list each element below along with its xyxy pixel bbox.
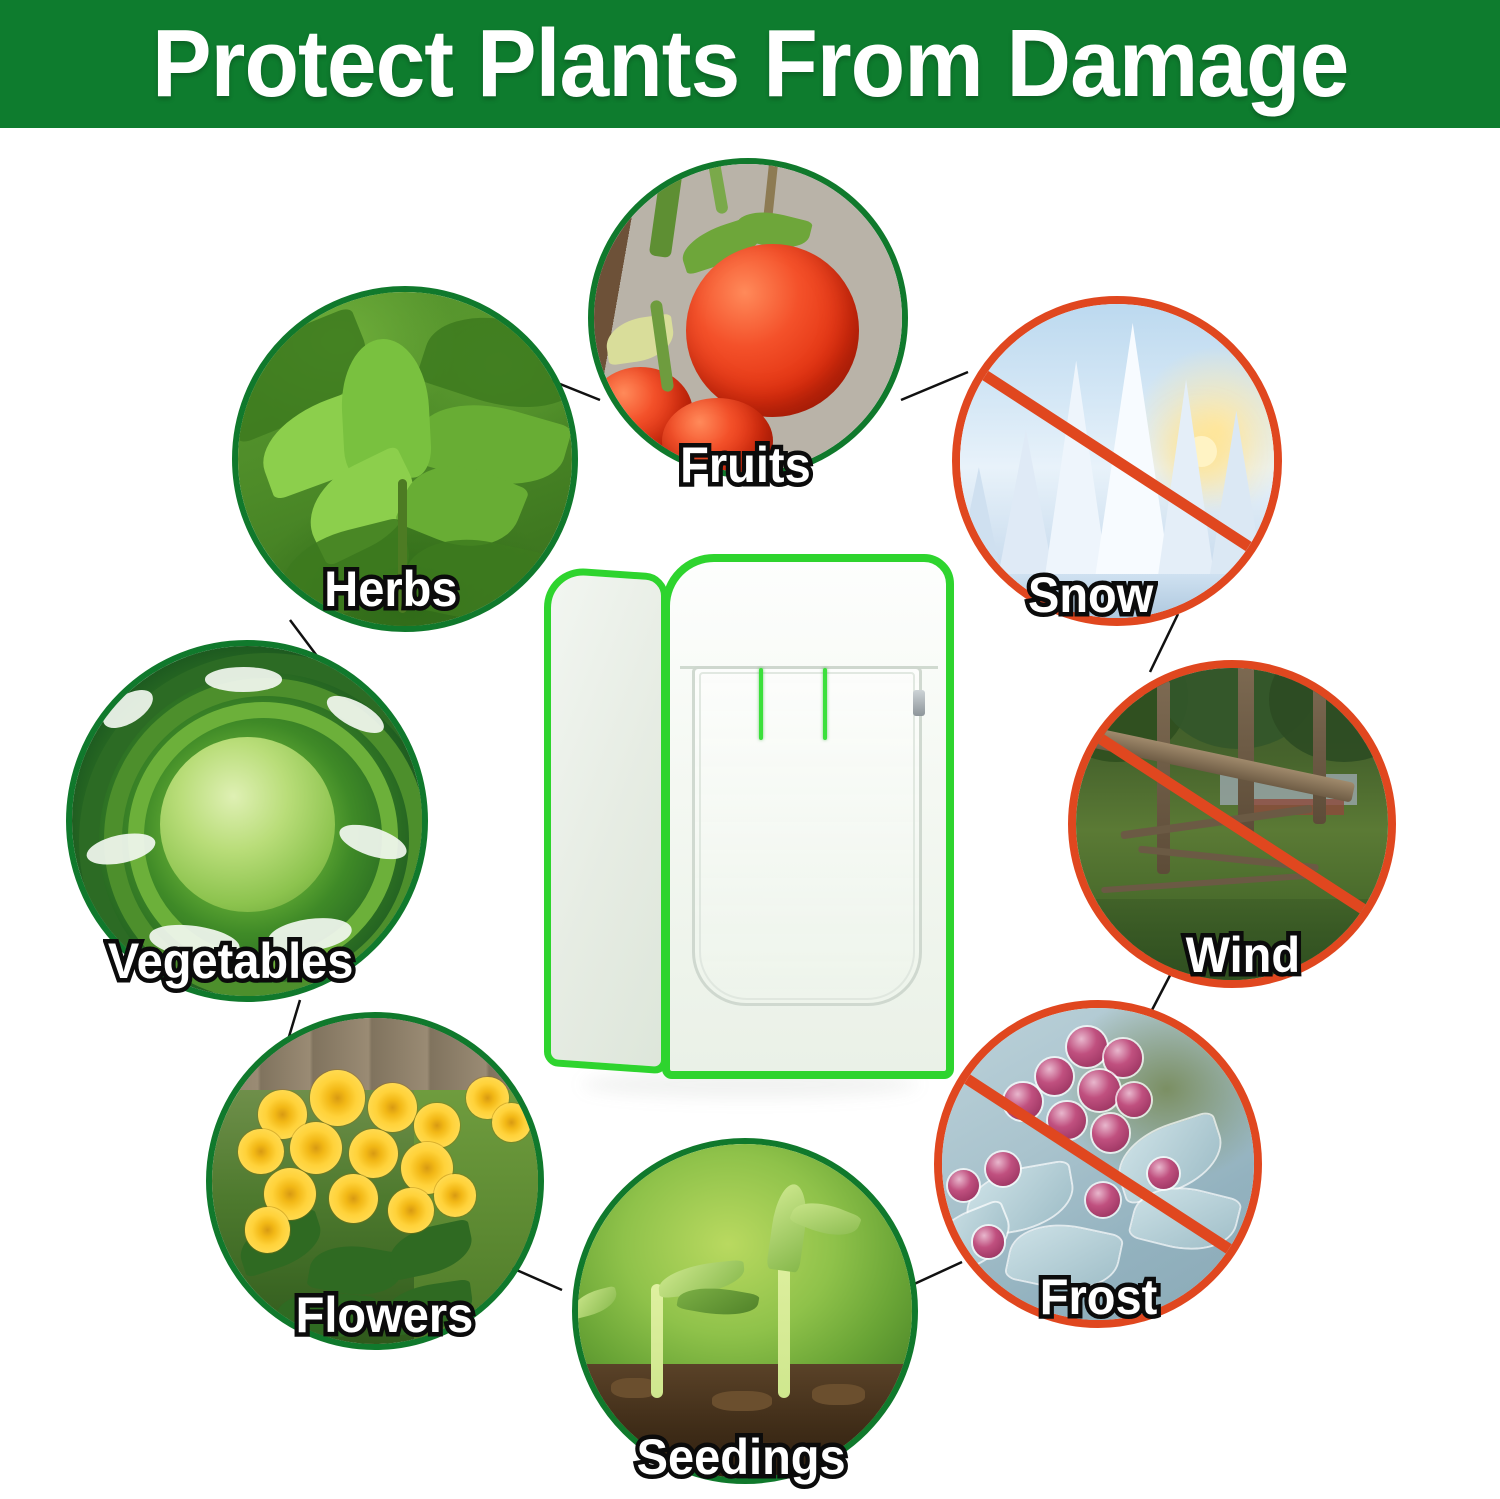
node-label-fruits: Fruits xyxy=(680,438,811,492)
tomato-icon xyxy=(594,164,902,472)
node-label-herbs: Herbs xyxy=(324,562,457,616)
header-banner: Protect Plants From Damage xyxy=(0,0,1500,128)
tent-door-inner-seam xyxy=(699,672,915,1000)
node-label-seedings: Seedings xyxy=(637,1430,846,1484)
node-label-vegetables: Vegetables xyxy=(108,934,354,988)
fruits-circle xyxy=(588,158,908,478)
node-flowers[interactable]: Flowers xyxy=(206,1012,544,1350)
page-title: Protect Plants From Damage xyxy=(152,14,1348,114)
node-vegetables[interactable]: Vegetables xyxy=(66,640,428,1002)
connector-snow-wind xyxy=(1150,614,1178,672)
infographic-page: Protect Plants From Damage xyxy=(0,0,1500,1499)
node-herbs[interactable]: Herbs xyxy=(232,286,578,632)
node-label-wind: Wind xyxy=(1186,928,1300,982)
node-seedings[interactable]: Seedings xyxy=(572,1138,918,1484)
seedling-sprouts-icon xyxy=(578,1144,912,1478)
node-wind[interactable]: Wind xyxy=(1068,660,1396,988)
tent-front-panel xyxy=(662,554,954,1079)
node-label-snow: Snow xyxy=(1028,568,1153,622)
connector-fruits-snow xyxy=(901,372,968,400)
node-frost[interactable]: Frost xyxy=(934,1000,1262,1328)
zipper-slider[interactable] xyxy=(913,690,925,716)
node-label-flowers: Flowers xyxy=(296,1288,474,1342)
zipper-pull-left[interactable] xyxy=(759,668,763,740)
node-fruits[interactable]: Fruits xyxy=(588,158,908,478)
node-snow[interactable]: Snow xyxy=(952,296,1282,626)
tent-side-panel xyxy=(544,566,668,1075)
product-greenhouse-tent[interactable] xyxy=(540,548,960,1093)
zipper-pull-right[interactable] xyxy=(823,668,827,740)
node-label-frost: Frost xyxy=(1040,1270,1158,1324)
